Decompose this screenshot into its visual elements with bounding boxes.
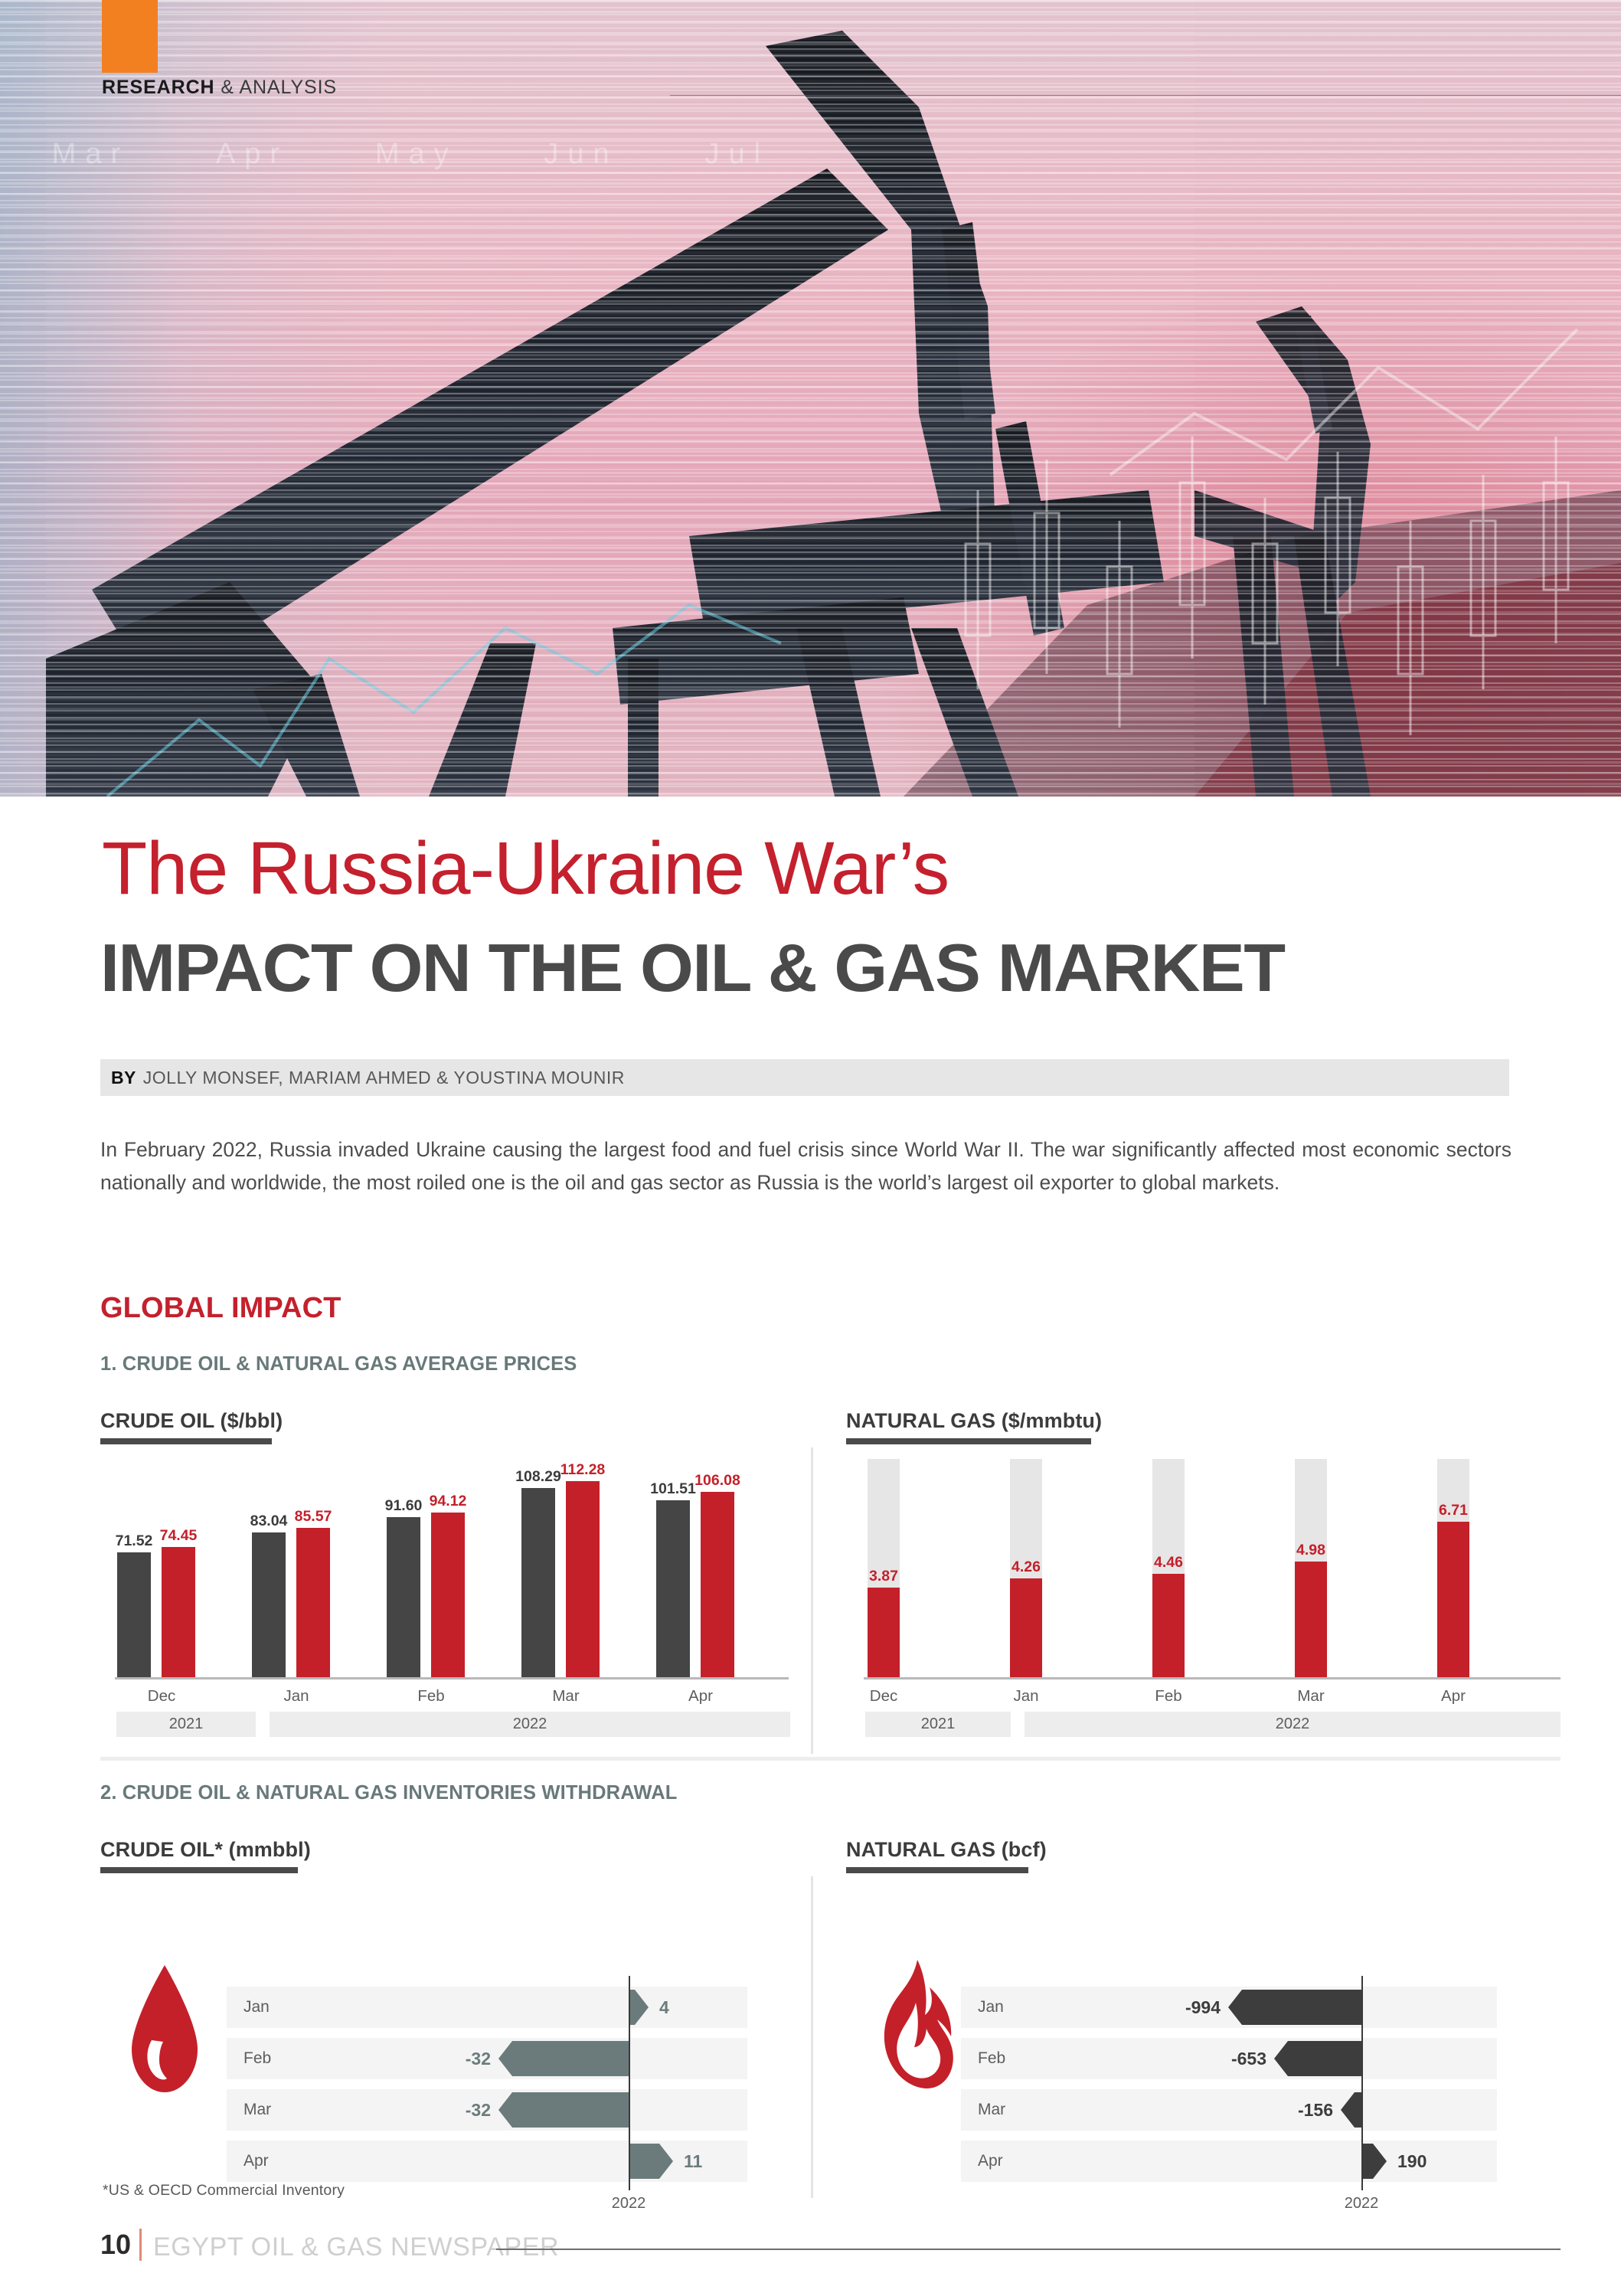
chart1-year-band-2022: 2022 bbox=[270, 1712, 790, 1737]
bar-label-natural-gas-prices-Dec: 3.87 bbox=[849, 1568, 918, 1585]
chart-title-natural-gas-inventories: NATURAL GAS (bcf) bbox=[846, 1838, 1047, 1862]
bar-crude-oil-prices-Dec-Brent bbox=[117, 1552, 151, 1677]
bar-natural-gas-prices-Dec bbox=[868, 1588, 900, 1677]
byline-names: JOLLY MONSEF, MARIAM AHMED & YOUSTINA MO… bbox=[143, 1068, 625, 1088]
month-label-natural-gas-prices-Feb: Feb bbox=[1123, 1687, 1214, 1706]
section2-column-divider bbox=[811, 1876, 813, 2198]
chart3-axis-year: 2022 bbox=[583, 2195, 675, 2213]
chart-title-rule-2 bbox=[846, 1438, 1091, 1444]
hero-image: Mar Apr May Jun Jul RESEARCH & ANALYSIS bbox=[0, 0, 1621, 796]
bar-label-crude-oil-prices-Dec-WTI: 74.45 bbox=[145, 1527, 212, 1545]
bar-crude-oil-prices-Apr-WTI bbox=[701, 1492, 734, 1677]
inventory-month-natural-gas-inventories-Feb: Feb bbox=[978, 2049, 1005, 2068]
inventory-bar-crude-oil-inventories-Jan bbox=[629, 1990, 649, 2025]
inventory-value-crude-oil-inventories-Apr: 11 bbox=[684, 2151, 783, 2172]
inventory-value-natural-gas-inventories-Apr: 190 bbox=[1397, 2151, 1497, 2172]
chart1-axis bbox=[115, 1677, 789, 1679]
bar-crude-oil-prices-Dec-WTI bbox=[162, 1547, 195, 1677]
inventory-value-natural-gas-inventories-Jan: -994 bbox=[1121, 1997, 1221, 2018]
byline-prefix: BY bbox=[111, 1068, 136, 1088]
bar-crude-oil-prices-Mar-Brent bbox=[521, 1488, 555, 1677]
month-label-natural-gas-prices-Jan: Jan bbox=[980, 1687, 1072, 1706]
inventory-value-crude-oil-inventories-Mar: -32 bbox=[391, 2100, 491, 2121]
kicker-bold: RESEARCH bbox=[102, 77, 215, 98]
month-label-crude-oil-prices-Apr: Apr bbox=[655, 1687, 747, 1706]
bar-label-crude-oil-prices-Mar-WTI: 112.28 bbox=[549, 1461, 616, 1479]
oil-drop-icon bbox=[123, 1961, 207, 2098]
bar-crude-oil-prices-Jan-WTI bbox=[296, 1528, 330, 1677]
inventory-month-crude-oil-inventories-Mar: Mar bbox=[243, 2101, 271, 2119]
footer-publication-name: EGYPT OIL & GAS NEWSPAPER bbox=[153, 2232, 559, 2262]
chart2-year-band-2021: 2021 bbox=[865, 1712, 1011, 1737]
footer-page-number: 10 bbox=[100, 2229, 131, 2261]
chart1-year-band-2021: 2021 bbox=[116, 1712, 256, 1737]
inventory-value-crude-oil-inventories-Jan: 4 bbox=[659, 1997, 759, 2018]
inventory-bar-crude-oil-inventories-Mar bbox=[498, 2092, 629, 2128]
inventory-month-crude-oil-inventories-Feb: Feb bbox=[243, 2049, 271, 2068]
bar-natural-gas-prices-Jan bbox=[1010, 1578, 1042, 1677]
chart-crude-oil-prices: 71.5274.4583.0485.5791.6094.12108.29112.… bbox=[100, 1459, 789, 1677]
inventory-bar-natural-gas-inventories-Apr bbox=[1361, 2144, 1387, 2179]
bar-natural-gas-prices-Mar bbox=[1295, 1562, 1327, 1677]
bar-label-natural-gas-prices-Jan: 4.26 bbox=[992, 1558, 1061, 1576]
chart-title-crude-oil-prices: CRUDE OIL ($/bbl) bbox=[100, 1409, 283, 1433]
orange-accent-block bbox=[102, 0, 158, 73]
chart2-year-band-2022: 2022 bbox=[1025, 1712, 1561, 1737]
month-label-natural-gas-prices-Dec: Dec bbox=[838, 1687, 930, 1706]
inventory-bar-natural-gas-inventories-Feb bbox=[1274, 2041, 1361, 2076]
section1-bottom-divider bbox=[100, 1757, 1561, 1761]
chart-title-crude-oil-inventories: CRUDE OIL* (mmbbl) bbox=[100, 1838, 311, 1862]
bar-label-natural-gas-prices-Apr: 6.71 bbox=[1419, 1502, 1488, 1519]
inventory-bar-crude-oil-inventories-Apr bbox=[629, 2144, 673, 2179]
section-heading-global-impact: GLOBAL IMPACT bbox=[100, 1292, 341, 1325]
page-title-line-1: The Russia-Ukraine War’s bbox=[102, 831, 1557, 907]
lead-paragraph: In February 2022, Russia invaded Ukraine… bbox=[100, 1133, 1512, 1199]
subsection-heading-1: 1. CRUDE OIL & NATURAL GAS AVERAGE PRICE… bbox=[100, 1353, 577, 1375]
flame-icon bbox=[873, 1957, 957, 2102]
bar-label-natural-gas-prices-Mar: 4.98 bbox=[1276, 1542, 1345, 1559]
chart-title-rule-3 bbox=[100, 1867, 298, 1873]
section-kicker: RESEARCH & ANALYSIS bbox=[102, 77, 337, 99]
chart-title-natural-gas-prices: NATURAL GAS ($/mmbtu) bbox=[846, 1409, 1102, 1433]
bar-label-crude-oil-prices-Jan-WTI: 85.57 bbox=[279, 1508, 347, 1526]
chart-title-rule-4 bbox=[846, 1867, 1028, 1873]
bar-crude-oil-prices-Mar-WTI bbox=[566, 1481, 600, 1677]
hero-scanlines-fine bbox=[0, 0, 1621, 796]
inventory-row-natural-gas-inventories-Mar bbox=[961, 2089, 1497, 2131]
bar-crude-oil-prices-Jan-Brent bbox=[252, 1532, 286, 1677]
inventory-month-natural-gas-inventories-Mar: Mar bbox=[978, 2101, 1005, 2119]
byline: BY JOLLY MONSEF, MARIAM AHMED & YOUSTINA… bbox=[100, 1059, 1509, 1096]
footer-divider-pipe bbox=[139, 2229, 142, 2261]
hero-month-ghost-text: Mar Apr May Jun Jul bbox=[0, 138, 919, 184]
bar-natural-gas-prices-Apr bbox=[1437, 1522, 1469, 1677]
inventory-month-natural-gas-inventories-Jan: Jan bbox=[978, 1998, 1004, 2016]
inventory-bar-crude-oil-inventories-Feb bbox=[498, 2041, 629, 2076]
bar-crude-oil-prices-Feb-WTI bbox=[431, 1513, 465, 1677]
footnote-inventory-source: *US & OECD Commercial Inventory bbox=[103, 2182, 345, 2200]
chart2-axis bbox=[864, 1677, 1561, 1679]
inventory-value-crude-oil-inventories-Feb: -32 bbox=[391, 2049, 491, 2069]
inventory-month-natural-gas-inventories-Apr: Apr bbox=[978, 2152, 1003, 2170]
month-label-crude-oil-prices-Jan: Jan bbox=[250, 1687, 342, 1706]
bar-natural-gas-prices-Feb bbox=[1152, 1574, 1185, 1677]
chart3-zero-line bbox=[629, 1976, 630, 2190]
chart-title-rule-1 bbox=[100, 1438, 272, 1444]
inventory-value-natural-gas-inventories-Mar: -156 bbox=[1234, 2100, 1333, 2121]
chart-natural-gas-prices: 3.874.264.464.986.71 bbox=[846, 1459, 1558, 1677]
subsection-heading-2: 2. CRUDE OIL & NATURAL GAS INVENTORIES W… bbox=[100, 1782, 678, 1804]
bar-label-crude-oil-prices-Apr-WTI: 106.08 bbox=[684, 1472, 751, 1490]
bar-crude-oil-prices-Feb-Brent bbox=[387, 1517, 420, 1677]
month-label-natural-gas-prices-Apr: Apr bbox=[1407, 1687, 1499, 1706]
bar-crude-oil-prices-Apr-Brent bbox=[656, 1500, 690, 1677]
month-label-natural-gas-prices-Mar: Mar bbox=[1265, 1687, 1357, 1706]
kicker-rule bbox=[670, 95, 1621, 96]
inventory-bar-natural-gas-inventories-Mar bbox=[1341, 2092, 1361, 2128]
section1-column-divider bbox=[811, 1447, 813, 1754]
inventory-month-crude-oil-inventories-Jan: Jan bbox=[243, 1998, 270, 2016]
footer-rule bbox=[496, 2249, 1561, 2250]
month-label-crude-oil-prices-Dec: Dec bbox=[116, 1687, 208, 1706]
bar-label-crude-oil-prices-Feb-WTI: 94.12 bbox=[414, 1493, 482, 1510]
chart4-axis-year: 2022 bbox=[1315, 2195, 1407, 2213]
chart4-zero-line bbox=[1361, 1976, 1363, 2190]
page-title-line-2: IMPACT ON THE OIL & GAS MARKET bbox=[100, 934, 1584, 1002]
inventory-value-natural-gas-inventories-Feb: -653 bbox=[1167, 2049, 1266, 2069]
bar-label-natural-gas-prices-Feb: 4.46 bbox=[1134, 1554, 1203, 1572]
month-label-crude-oil-prices-Mar: Mar bbox=[520, 1687, 612, 1706]
inventory-bar-natural-gas-inventories-Jan bbox=[1228, 1990, 1361, 2025]
kicker-rest: & ANALYSIS bbox=[215, 77, 338, 98]
inventory-month-crude-oil-inventories-Apr: Apr bbox=[243, 2152, 269, 2170]
month-label-crude-oil-prices-Feb: Feb bbox=[385, 1687, 477, 1706]
